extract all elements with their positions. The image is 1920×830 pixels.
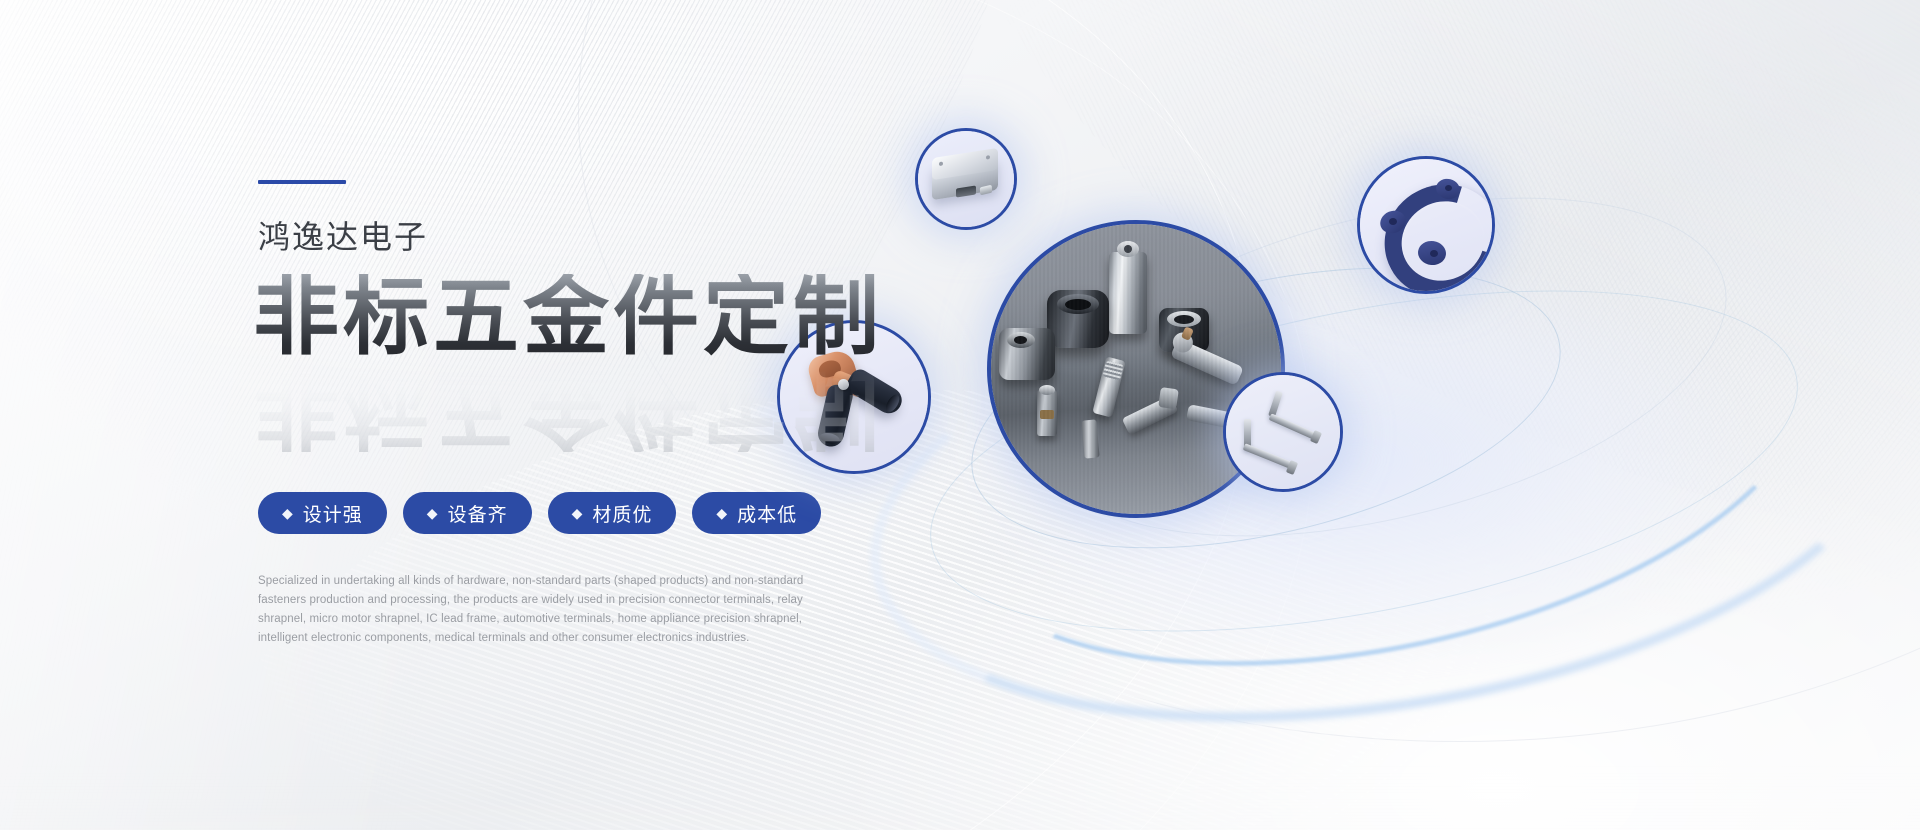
diamond-icon: ◆ (716, 506, 728, 520)
hex-key-pins-photo (1226, 375, 1340, 489)
product-bubble-blue-retaining-c-clip[interactable] (1357, 156, 1495, 294)
page-title: 非标五金件定制 (253, 274, 1018, 360)
part-elbow-fitting (1122, 395, 1178, 435)
feature-tag-label: 设计强 (303, 500, 363, 527)
feature-tag-label: 设备齐 (448, 500, 508, 527)
part-hex-nut (1159, 308, 1209, 352)
feature-tag-cost[interactable]: ◆ 成本低 (692, 492, 821, 534)
feature-tag-label: 成本低 (737, 500, 797, 527)
clip-hole (1430, 250, 1438, 257)
part-steel-pin (1081, 419, 1099, 458)
enclosure-box-photo (918, 131, 1014, 227)
diamond-icon: ◆ (282, 506, 294, 520)
feature-tag-material[interactable]: ◆ 材质优 (548, 492, 677, 534)
part-tall-cylinder (1109, 252, 1147, 334)
diamond-icon: ◆ (427, 506, 439, 520)
enclosure-port (956, 185, 976, 197)
feature-tag-design[interactable]: ◆ 设计强 (258, 492, 387, 534)
product-visual-cluster (905, 120, 1905, 680)
feature-tag-label: 材质优 (592, 500, 652, 527)
diamond-icon: ◆ (572, 506, 584, 520)
clip-hole (1389, 218, 1397, 225)
hex-key-long-leg (1269, 413, 1318, 440)
product-bubble-bent-hex-key-pins[interactable] (1223, 372, 1343, 492)
clip-hole (1445, 185, 1452, 191)
part-black-ring (1047, 290, 1109, 348)
brand-name: 鸿逸达电子 (258, 218, 1018, 256)
product-bubble-metal-enclosure-box[interactable] (915, 128, 1017, 230)
retaining-clip-photo (1360, 159, 1492, 291)
clamp-pivot-rivet (838, 379, 849, 390)
part-small-cylinder (1037, 390, 1057, 436)
enclosure-tab (980, 185, 993, 196)
hero-description: Specialized in undertaking all kinds of … (258, 572, 823, 648)
feature-tag-equipment[interactable]: ◆ 设备齐 (403, 492, 532, 534)
hero-banner: 鸿逸达电子 非标五金件定制 非标五金件定制 ◆ 设计强 ◆ 设备齐 ◆ 材质优 … (0, 0, 1920, 830)
accent-rule (258, 180, 346, 184)
clamp-handle-right (843, 366, 906, 418)
part-threaded-plug (1092, 356, 1125, 417)
